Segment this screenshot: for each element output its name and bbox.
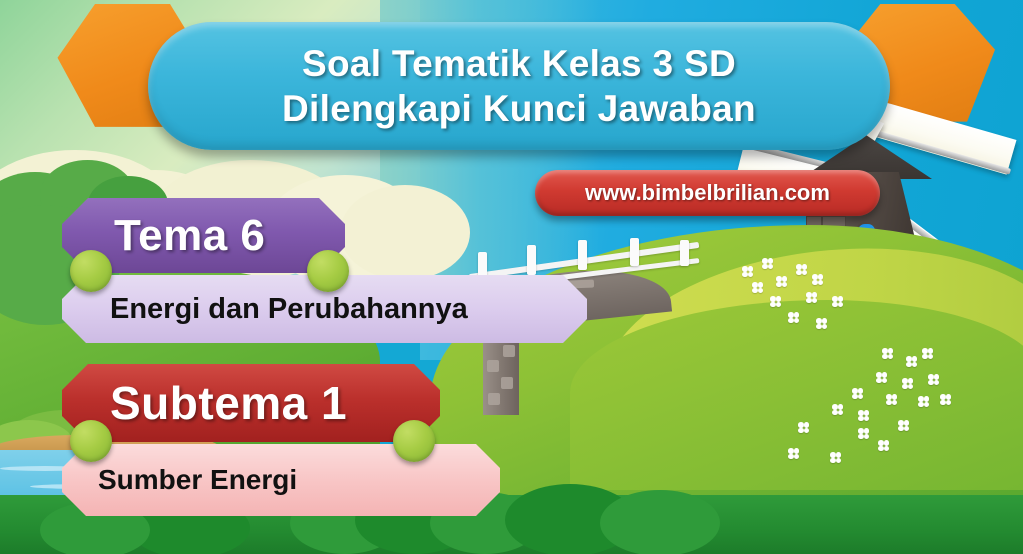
bridge-stone: [487, 360, 499, 372]
tema-badge-label: Tema 6: [114, 211, 265, 261]
tema-subtitle-text: Energi dan Perubahannya: [110, 293, 468, 326]
main-title-banner: Soal Tematik Kelas 3 SD Dilengkapi Kunci…: [148, 22, 890, 150]
title-line-2: Dilengkapi Kunci Jawaban: [282, 86, 756, 131]
subtema-subtitle-text: Sumber Energi: [98, 464, 297, 496]
poster-canvas: Soal Tematik Kelas 3 SD Dilengkapi Kunci…: [0, 0, 1023, 554]
website-url-banner[interactable]: www.bimbelbrilian.com: [535, 170, 880, 216]
bridge-stone: [503, 345, 515, 357]
subtema-badge-label: Subtema 1: [110, 376, 347, 430]
bridge-stone: [488, 393, 500, 405]
bridge-rail-post: [527, 245, 536, 275]
title-line-1: Soal Tematik Kelas 3 SD: [302, 41, 736, 86]
stud-icon: [393, 420, 435, 462]
cloud-shape: [340, 185, 470, 280]
bridge-rail-post: [630, 238, 639, 266]
subtema-badge: Subtema 1: [62, 364, 440, 442]
bush: [600, 490, 720, 554]
bridge-rail-post: [578, 240, 587, 270]
bridge-rail-post: [680, 240, 689, 266]
website-url-text: www.bimbelbrilian.com: [585, 180, 830, 206]
stud-icon: [307, 250, 349, 292]
subtema-subtitle-bar: Sumber Energi: [62, 444, 500, 516]
bridge-stone: [501, 377, 513, 389]
stud-icon: [70, 250, 112, 292]
stud-icon: [70, 420, 112, 462]
